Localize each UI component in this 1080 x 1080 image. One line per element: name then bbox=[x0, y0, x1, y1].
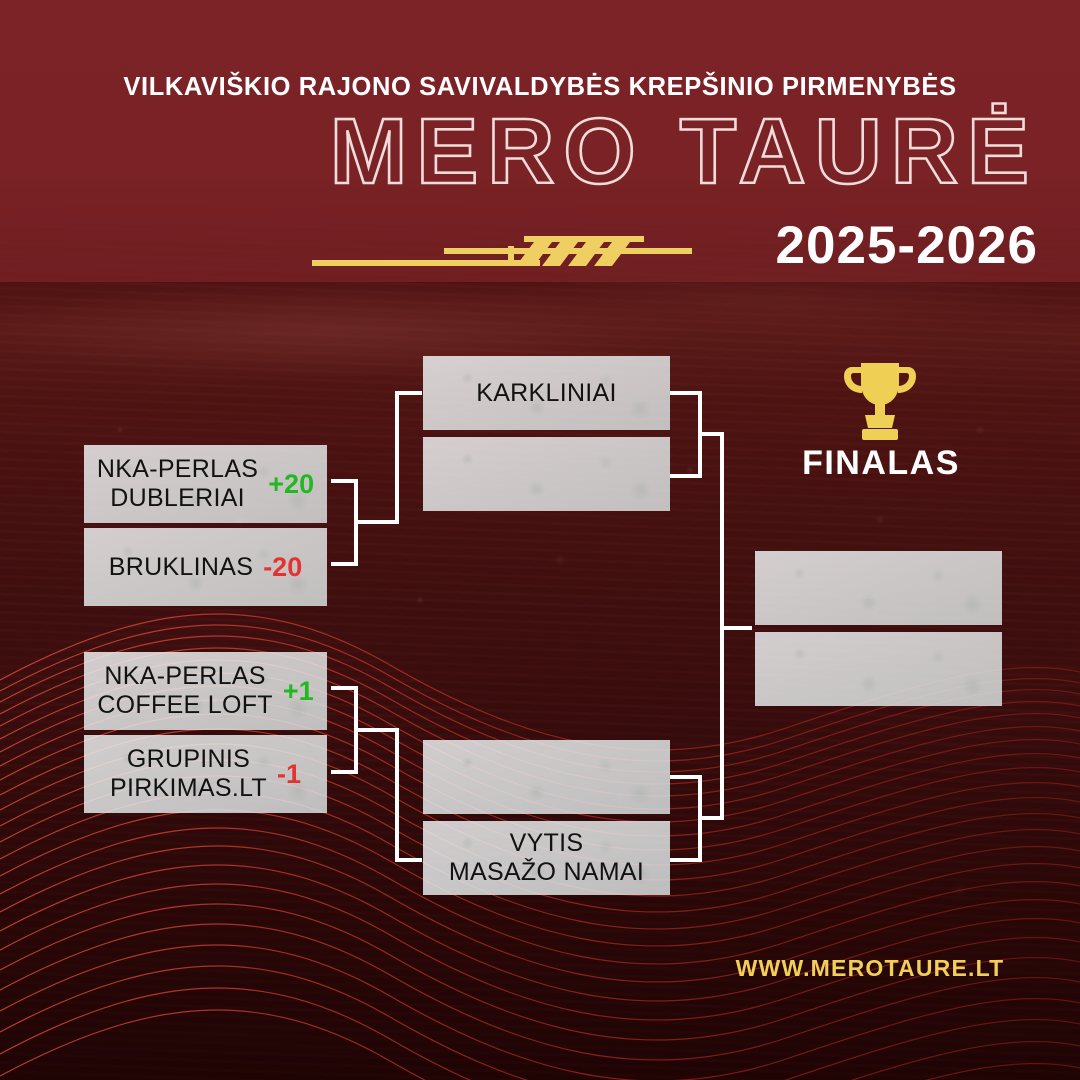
bracket-slot-qf2-team2[interactable]: GRUPINIS PIRKIMAS.LT -1 bbox=[84, 735, 327, 813]
team-name: KARKLINIAI bbox=[476, 379, 617, 408]
bracket-slot-sf1-team1[interactable]: KARKLINIAI bbox=[423, 356, 670, 430]
trophy-icon bbox=[834, 355, 926, 447]
bracket-slot-sf1-team2[interactable] bbox=[423, 437, 670, 511]
season-label: 2025-2026 bbox=[776, 215, 1038, 276]
bracket-slot-final-team2[interactable] bbox=[755, 632, 1002, 706]
bracket-slot-qf1-team1[interactable]: NKA-PERLAS DUBLERIAI +20 bbox=[84, 445, 327, 523]
gold-speed-lines-icon bbox=[312, 222, 712, 272]
team-name: NKA-PERLAS DUBLERIAI bbox=[97, 455, 258, 513]
bracket-slot-final-team1[interactable] bbox=[755, 551, 1002, 625]
team-score: +20 bbox=[268, 469, 314, 500]
event-subtitle: VILKAVIŠKIO RAJONO SAVIVALDYBĖS KREPŠINI… bbox=[0, 73, 1080, 102]
team-name: BRUKLINAS bbox=[109, 553, 253, 582]
page-title: MERO TAURĖ bbox=[0, 105, 1080, 198]
bracket-slot-sf2-team1[interactable] bbox=[423, 740, 670, 814]
team-score: +1 bbox=[283, 676, 314, 707]
tournament-bracket-poster: VILKAVIŠKIO RAJONO SAVIVALDYBĖS KREPŠINI… bbox=[0, 0, 1080, 1080]
team-score: -20 bbox=[263, 552, 302, 583]
bracket-slot-sf2-team2[interactable]: VYTIS MASAŽO NAMAI bbox=[423, 821, 670, 895]
team-name: GRUPINIS PIRKIMAS.LT bbox=[110, 745, 267, 803]
bracket-slot-qf2-team1[interactable]: NKA-PERLAS COFFEE LOFT +1 bbox=[84, 652, 327, 730]
finals-label: FINALAS bbox=[756, 444, 1006, 483]
bracket-slot-qf1-team2[interactable]: BRUKLINAS -20 bbox=[84, 528, 327, 606]
team-score: -1 bbox=[277, 759, 301, 790]
website-url[interactable]: WWW.MEROTAURE.LT bbox=[700, 955, 1040, 982]
team-name: NKA-PERLAS COFFEE LOFT bbox=[97, 662, 273, 720]
team-name: VYTIS MASAŽO NAMAI bbox=[449, 829, 644, 887]
